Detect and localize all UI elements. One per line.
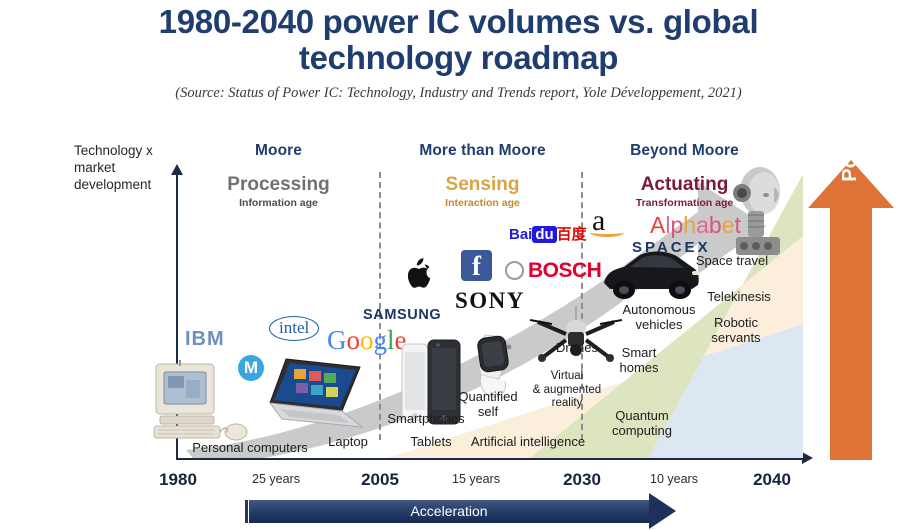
autonomous-line-2: vehicles <box>613 317 705 332</box>
quantified-line-2: self <box>452 404 524 419</box>
infographic-root: 1980-2040 power IC volumes vs. global te… <box>0 0 917 530</box>
sony-logo: SONY <box>455 288 525 314</box>
app-label-robotic-servants: Robotic servants <box>700 315 772 345</box>
divider-moore-morethanmoore <box>379 172 381 440</box>
var-line-2: & augmented <box>524 384 610 398</box>
quantum-line-2: computing <box>603 423 681 438</box>
y-axis-label: Technology x market development <box>74 142 184 193</box>
autonomous-car-illustration <box>598 245 703 308</box>
tick-gap-10-years: 10 years <box>638 472 710 486</box>
app-label-laptop: Laptop <box>313 434 383 449</box>
smart-line-1: Smart <box>608 345 670 360</box>
samsung-logo: SAMSUNG <box>363 307 441 323</box>
app-label-virtual-augmented-reality: Virtual & augmented reality <box>524 370 610 411</box>
era-more-than-moore-name: More than Moore <box>395 142 570 160</box>
tick-year-2005: 2005 <box>344 470 416 490</box>
quantum-line-1: Quantum <box>603 408 681 423</box>
x-axis-line <box>176 458 804 460</box>
power-ic-volumes-arrow: Power IC volumes <box>808 160 894 460</box>
intel-logo: intel <box>269 316 319 341</box>
laptop-icon <box>264 355 374 433</box>
var-line-1: Virtual <box>524 370 610 384</box>
era-moore: Moore Processing Information age <box>196 142 361 209</box>
app-label-smart-homes: Smart homes <box>608 345 670 375</box>
era-moore-age: Information age <box>196 197 361 209</box>
amazon-wordmark: a <box>592 204 605 237</box>
page-title: 1980-2040 power IC volumes vs. global te… <box>0 4 917 76</box>
y-axis-label-line-2: market <box>74 159 184 176</box>
tick-year-1980: 1980 <box>142 470 214 490</box>
title-line-2: technology roadmap <box>0 40 917 76</box>
app-label-personal-computers: Personal computers <box>185 440 315 455</box>
ibm-logo: IBM <box>185 328 225 351</box>
var-line-3: reality <box>524 397 610 411</box>
power-ic-volumes-label: Power IC volumes <box>808 0 892 244</box>
tick-year-2030: 2030 <box>546 470 618 490</box>
apple-logo <box>405 256 435 295</box>
app-label-quantum-computing: Quantum computing <box>603 408 681 438</box>
desktop-computer-icon <box>150 358 255 446</box>
baidu-logo: Baidu百度 <box>509 223 587 244</box>
y-axis-label-line-1: Technology x <box>74 142 184 159</box>
tick-gap-25-years: 25 years <box>240 472 312 486</box>
era-beyond-moore-name: Beyond Moore <box>597 142 772 160</box>
acceleration-bar-cap <box>245 500 248 523</box>
era-more-than-moore: More than Moore Sensing Interaction age <box>395 142 570 209</box>
facebook-logo: f <box>461 250 492 281</box>
app-label-artificial-intelligence: Artificial intelligence <box>443 434 613 449</box>
y-axis-label-line-3: development <box>74 176 184 193</box>
smart-line-2: homes <box>608 360 670 375</box>
bosch-logo: BOSCH <box>505 259 601 283</box>
amazon-logo: a <box>592 207 624 237</box>
bosch-wordmark: BOSCH <box>528 259 601 282</box>
quantified-line-1: Quantified <box>452 389 524 404</box>
tick-gap-15-years: 15 years <box>440 472 512 486</box>
apple-icon <box>405 256 435 292</box>
desktop-computer-illustration <box>150 358 255 451</box>
acceleration-label: Acceleration <box>249 503 649 519</box>
robotic-line-2: servants <box>700 330 772 345</box>
era-more-than-moore-age: Interaction age <box>395 197 570 209</box>
title-line-1: 1980-2040 power IC volumes vs. global <box>0 4 917 40</box>
era-more-than-moore-theme: Sensing <box>395 174 570 196</box>
acceleration-arrowhead <box>649 493 676 529</box>
google-logo: Google <box>327 325 407 356</box>
era-moore-name: Moore <box>196 142 361 160</box>
app-label-quantified-self: Quantified self <box>452 389 524 419</box>
era-moore-theme: Processing <box>196 174 361 196</box>
robot-icon <box>722 165 792 265</box>
autonomous-line-1: Autonomous <box>613 302 705 317</box>
source-note: (Source: Status of Power IC: Technology,… <box>0 85 917 102</box>
car-icon <box>598 245 703 303</box>
robotic-line-1: Robotic <box>700 315 772 330</box>
app-label-autonomous-vehicles: Autonomous vehicles <box>613 302 705 332</box>
laptop-illustration <box>264 355 374 438</box>
tick-year-2040: 2040 <box>736 470 808 490</box>
app-label-space-travel: Space travel <box>689 253 775 268</box>
app-label-drones: Drones <box>548 340 606 355</box>
app-label-telekinesis: Telekinesis <box>698 289 780 304</box>
